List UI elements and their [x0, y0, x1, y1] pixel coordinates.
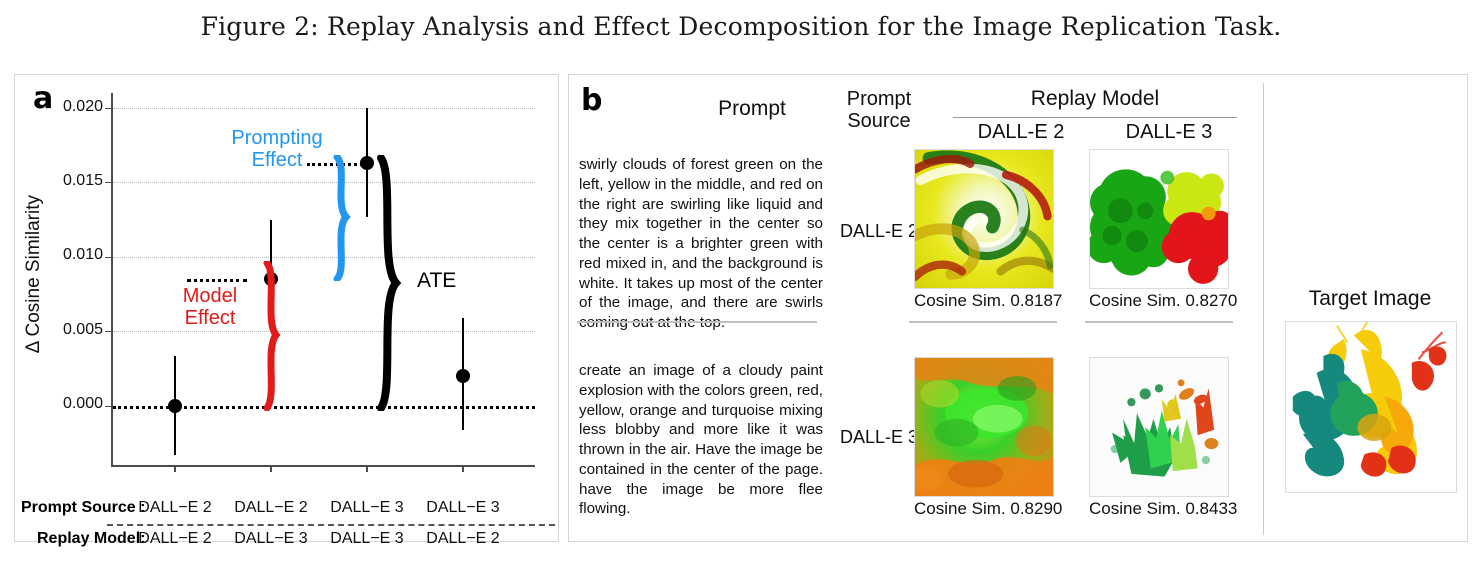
replay-model-cell-4: DALL−E 2: [421, 530, 505, 548]
prompting-effect-line2: Effect: [252, 149, 303, 171]
gridline-0.020: [113, 108, 535, 109]
gridline-0.015: [113, 182, 535, 183]
xtickmark-1: [174, 465, 176, 472]
ytick-label-2: 0.010: [33, 246, 103, 264]
prompt-source-row-label: Prompt Source :: [21, 499, 145, 517]
tickmark-0.015: [105, 182, 111, 183]
orange-green-cloud-paint-image: [915, 358, 1053, 496]
cosine-sim-r2c2: Cosine Sim. 0.8433: [1089, 499, 1227, 519]
row-divider-mid2: [1085, 321, 1233, 323]
xtickmark-2: [270, 465, 272, 472]
row-divider-left: [577, 321, 817, 323]
replay-image-r1c2: [1089, 149, 1229, 289]
prompting-effect-line1: Prompting: [231, 127, 322, 149]
leader-line-point2: [187, 279, 247, 282]
replay-model-row-label: Replay Model:: [37, 530, 145, 548]
prompt-text-row-2: create an image of a cloudy paint explos…: [579, 361, 823, 519]
replay-model-cell-3: DALL−E 3: [325, 530, 409, 548]
model-effect-line1: Model: [183, 285, 237, 307]
x-axis-category-table: Prompt Source : DALL−E 2 DALL−E 2 DALL−E…: [15, 499, 558, 555]
target-column-divider: [1263, 83, 1264, 535]
prompt-source-cell-2: DALL−E 2: [229, 499, 313, 517]
model-effect-line2: Effect: [185, 307, 236, 329]
green-orange-splash-burst-image: [1090, 358, 1228, 496]
cosine-sim-r2c1: Cosine Sim. 0.8290: [914, 499, 1052, 519]
replay-subcol-header-2: DALL-E 3: [1099, 121, 1239, 144]
row-divider-mid1: [909, 321, 1057, 323]
figure-caption: Figure 2: Replay Analysis and Effect Dec…: [0, 0, 1482, 41]
prompt-source-cell-3: DALL−E 3: [325, 499, 409, 517]
ate-brace: [375, 155, 409, 411]
prompt-source-column-header: Prompt Source: [819, 89, 939, 132]
prompt-source-header-line2: Source: [847, 110, 910, 132]
tickmark-0.020: [105, 108, 111, 109]
prompting-effect-label: Prompting Effect: [221, 127, 333, 172]
ytick-label-4: 0.020: [33, 98, 103, 116]
y-axis-line: [111, 93, 113, 465]
gridline-0.010: [113, 257, 535, 258]
replay-model-cell-2: DALL−E 3: [229, 530, 313, 548]
prompt-source-header-line1: Prompt: [847, 88, 911, 110]
panel-b-examples: b Prompt Prompt Source Replay Model DALL…: [568, 74, 1468, 542]
figure-panels: a Δ Cosine Similarity 0.020 0.015 0.010 …: [0, 74, 1482, 552]
ytick-label-1: 0.005: [33, 321, 103, 339]
data-point-1: [168, 399, 182, 413]
xtickmark-4: [462, 465, 464, 472]
cosine-sim-r1c2: Cosine Sim. 0.8270: [1089, 291, 1227, 311]
replay-image-r2c1: [914, 357, 1054, 497]
tickmark-0.005: [105, 331, 111, 332]
plot-area: 0.020 0.015 0.010 0.005 0.000: [111, 93, 535, 491]
row-separator-dashed: [107, 524, 555, 526]
swirl-yellow-green-red-image: [915, 150, 1053, 288]
ytick-label-0: 0.000: [33, 395, 103, 413]
prompt-text-row-1: swirly clouds of forest green on the lef…: [579, 155, 823, 333]
cosine-sim-r1c1: Cosine Sim. 0.8187: [914, 291, 1052, 311]
model-effect-label: Model Effect: [167, 285, 253, 330]
prompting-effect-brace: [333, 155, 361, 281]
teal-yellow-red-ink-burst-image: [1286, 322, 1456, 492]
model-effect-brace: [263, 261, 291, 411]
xtickmark-3: [366, 465, 368, 472]
replay-model-cell-1: DALL−E 2: [133, 530, 217, 548]
prompt-source-cell-4: DALL−E 3: [421, 499, 505, 517]
tickmark-0.010: [105, 257, 111, 258]
replay-model-column-header: Replay Model: [951, 87, 1239, 111]
target-image-box: [1285, 321, 1457, 493]
panel-a-chart: a Δ Cosine Similarity 0.020 0.015 0.010 …: [14, 74, 559, 542]
ytick-label-3: 0.015: [33, 172, 103, 190]
replay-model-header-rule: [953, 117, 1237, 118]
panel-b-letter: b: [581, 83, 602, 118]
target-image-label: Target Image: [1275, 287, 1465, 311]
replay-image-r2c2: [1089, 357, 1229, 497]
prompt-source-row: Prompt Source : DALL−E 2 DALL−E 2 DALL−E…: [15, 499, 558, 524]
ate-label: ATE: [417, 269, 456, 293]
replay-subcol-header-1: DALL-E 2: [951, 121, 1091, 144]
prompt-source-cell-1: DALL−E 2: [133, 499, 217, 517]
tickmark-0.000: [105, 406, 111, 407]
replay-image-r1c1: [914, 149, 1054, 289]
replay-model-row: Replay Model: DALL−E 2 DALL−E 3 DALL−E 3…: [15, 530, 558, 555]
gridline-0.005: [113, 331, 535, 332]
green-red-smoke-clouds-image: [1090, 150, 1228, 288]
data-point-4: [456, 369, 470, 383]
